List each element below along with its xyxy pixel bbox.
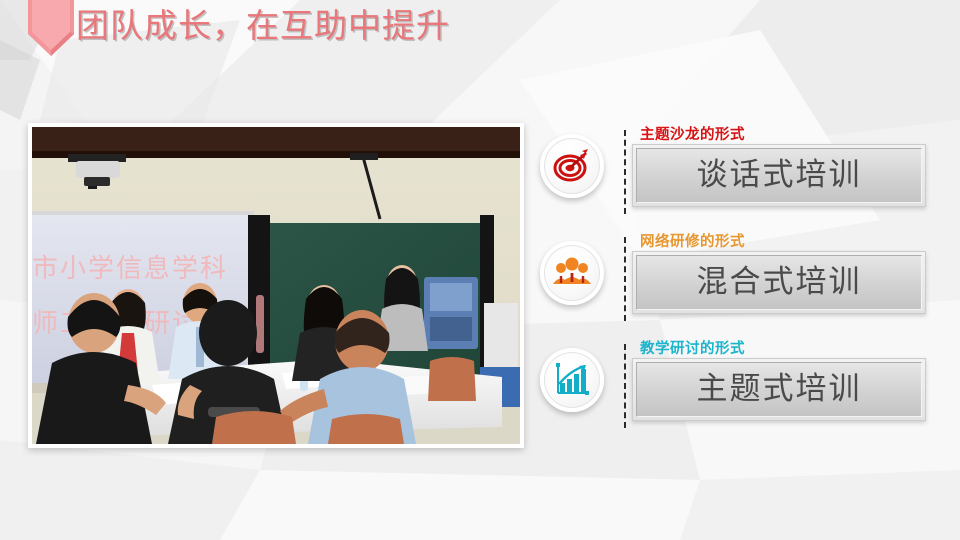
- target-arrow-icon[interactable]: [540, 134, 604, 198]
- meeting-photo: 市小学信息学科 师工作室研讨活动: [32, 127, 520, 444]
- list-item: 主题沙龙的形式 谈话式培训: [528, 120, 948, 227]
- page-title: 团队成长，在互助中提升: [76, 4, 450, 48]
- meeting-photo-frame: 市小学信息学科 师工作室研讨活动: [28, 123, 524, 448]
- bar-chart-growth-icon[interactable]: [540, 348, 604, 412]
- list-item-label: 主题沙龙的形式: [640, 123, 745, 144]
- ribbon-banner-icon: [28, 0, 74, 56]
- list-item: 教学研讨的形式 主题式培训: [528, 334, 948, 441]
- list-item-label: 网络研修的形式: [640, 230, 745, 251]
- row-divider: [624, 344, 626, 428]
- slide-canvas: 团队成长，在互助中提升: [0, 0, 960, 540]
- people-group-icon[interactable]: [540, 241, 604, 305]
- list-item: 网络研修的形式 混合式培训: [528, 227, 948, 334]
- list-item-value-box[interactable]: 谈话式培训: [632, 144, 926, 207]
- list-item-label: 教学研讨的形式: [640, 337, 745, 358]
- list-item-value-box[interactable]: 混合式培训: [632, 251, 926, 314]
- list-item-value-box[interactable]: 主题式培训: [632, 358, 926, 421]
- list-item-value: 主题式培训: [697, 374, 862, 405]
- training-forms-list: 主题沙龙的形式 谈话式培训: [528, 120, 948, 460]
- svg-text:市小学信息学科: 市小学信息学科: [32, 254, 228, 284]
- row-divider: [624, 130, 626, 214]
- row-divider: [624, 237, 626, 321]
- list-item-value: 谈话式培训: [697, 160, 862, 191]
- list-item-value: 混合式培训: [697, 267, 862, 298]
